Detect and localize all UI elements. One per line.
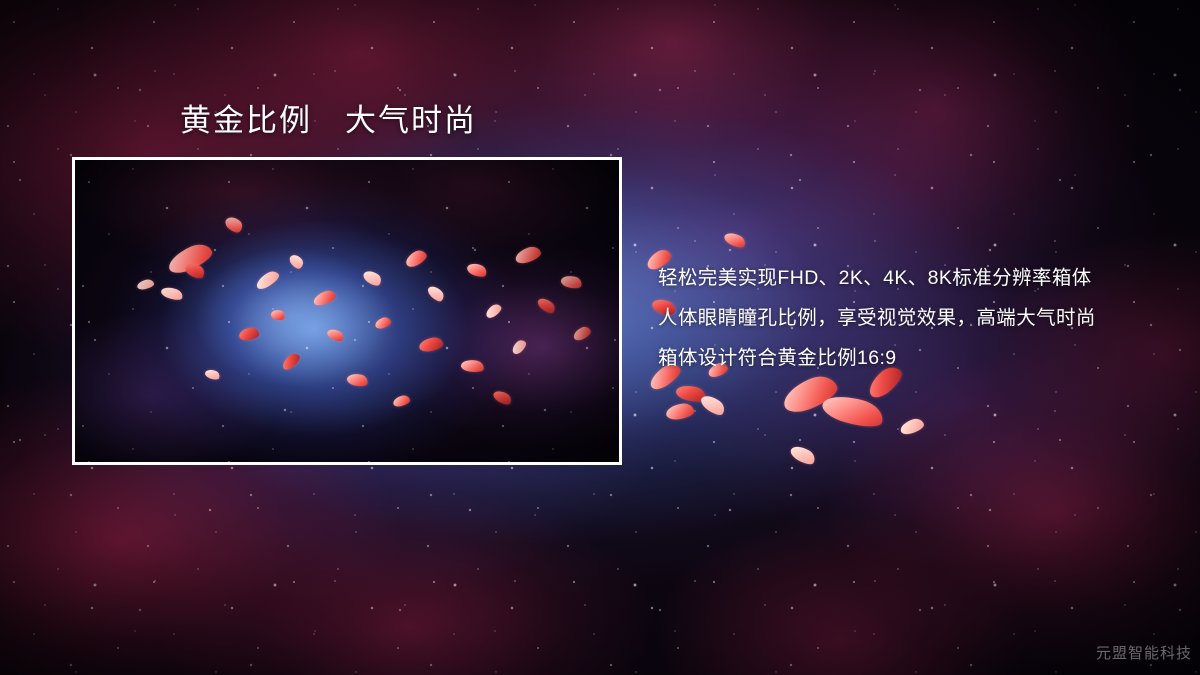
frame-vignette-overlay [75, 160, 619, 462]
petal-icon [665, 402, 695, 421]
photo-frame [72, 157, 622, 465]
body-copy-line-2: 人体眼睛瞳孔比例，享受视觉效果，高端大气时尚 [658, 298, 1178, 338]
body-copy-line-1: 轻松完美实现FHD、2K、4K、8K标准分辨率箱体 [658, 258, 1178, 298]
body-copy: 轻松完美实现FHD、2K、4K、8K标准分辨率箱体 人体眼睛瞳孔比例，享受视觉效… [658, 258, 1178, 378]
petal-icon [698, 392, 727, 419]
watermark: 元盟智能科技 [1096, 642, 1192, 663]
slide-canvas: 黄金比例 大气时尚 轻松完美实现FHD、2K、4K、8K标准分辨率箱体 人体眼睛… [0, 0, 1200, 675]
petal-icon [722, 230, 747, 250]
body-copy-line-3: 箱体设计符合黄金比例16:9 [658, 338, 1178, 378]
petal-icon [788, 442, 818, 467]
petal-icon [899, 417, 926, 437]
slide-title: 黄金比例 大气时尚 [180, 101, 477, 141]
photo-frame-image [75, 160, 619, 462]
